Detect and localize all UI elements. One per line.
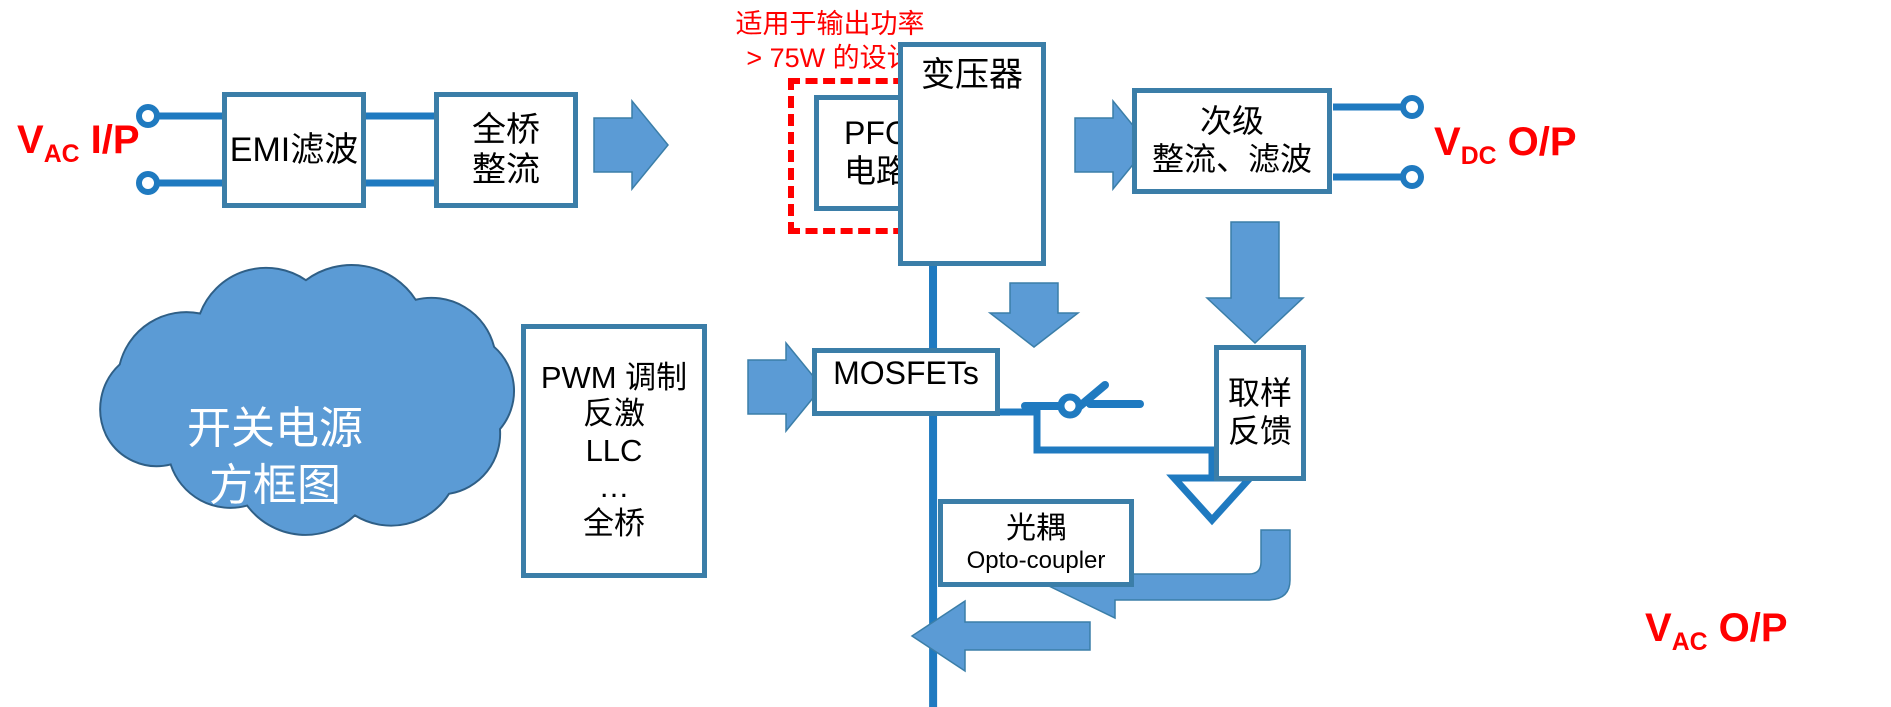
block-sampling-line1: 取样 bbox=[1228, 375, 1292, 413]
block-pwm-line4: … bbox=[599, 469, 630, 506]
block-secondary-line1: 次级 bbox=[1200, 103, 1264, 141]
output-terminal-bottom-icon bbox=[1403, 168, 1421, 186]
output-terminal-top-icon bbox=[1403, 98, 1421, 116]
label-vac-input-rest: I/P bbox=[80, 118, 140, 162]
arrow-secondary-to-sampling bbox=[1207, 222, 1303, 343]
block-pwm-line5: 全桥 bbox=[583, 506, 645, 543]
block-diagram-canvas: VAC I/P VDC O/P VAC O/P 适用于输出功率 > 75W 的设… bbox=[0, 0, 1891, 707]
block-bridge-rectifier-line2: 整流 bbox=[472, 150, 540, 190]
block-pwm-line1: PWM 调制 bbox=[541, 360, 687, 397]
block-pwm-line2: 反激 bbox=[583, 396, 645, 433]
label-vac-output-rest: O/P bbox=[1708, 606, 1788, 650]
label-vac-input-sub: AC bbox=[44, 141, 80, 168]
label-vac-output: VAC O/P bbox=[1645, 608, 1788, 656]
block-bridge-rectifier[interactable]: 全桥 整流 bbox=[434, 92, 578, 208]
arrow-rectifier-to-pfc bbox=[594, 101, 668, 189]
block-sampling-feedback[interactable]: 取样 反馈 bbox=[1214, 345, 1306, 481]
title-cloud-line2: 方框图 bbox=[120, 457, 430, 514]
mosfet-ground-wire bbox=[1000, 412, 1212, 478]
block-secondary-line2: 整流、滤波 bbox=[1152, 141, 1312, 179]
pfc-annotation-line1: 适用于输出功率 bbox=[700, 8, 960, 42]
label-vdc-output: VDC O/P bbox=[1434, 122, 1577, 170]
block-optocoupler[interactable]: 光耦 Opto-coupler bbox=[938, 499, 1134, 587]
block-optocoupler-line1: 光耦 bbox=[1006, 511, 1066, 546]
label-vac-output-sub: AC bbox=[1672, 629, 1708, 656]
block-pwm-control[interactable]: PWM 调制 反激 LLC … 全桥 bbox=[521, 324, 707, 578]
output-wires bbox=[1333, 107, 1412, 177]
arrow-down-to-mosfets bbox=[990, 283, 1078, 347]
label-vac-output-v: V bbox=[1645, 606, 1672, 650]
title-cloud-text: 开关电源 方框图 bbox=[120, 400, 430, 514]
label-vdc-output-v: V bbox=[1434, 120, 1461, 164]
block-sampling-line2: 反馈 bbox=[1228, 413, 1292, 451]
block-mosfets-label: MOSFETs bbox=[833, 355, 979, 393]
block-emi-filter[interactable]: EMI滤波 bbox=[222, 92, 366, 208]
label-vdc-output-rest: O/P bbox=[1497, 120, 1577, 164]
block-bridge-rectifier-line1: 全桥 bbox=[472, 110, 540, 150]
ground-symbol-icon bbox=[1174, 478, 1250, 520]
block-emi-filter-label: EMI滤波 bbox=[230, 130, 358, 170]
title-cloud-line1: 开关电源 bbox=[120, 400, 430, 457]
block-transformer[interactable]: 变压器 bbox=[898, 42, 1046, 266]
block-secondary-rectify-filter[interactable]: 次级 整流、滤波 bbox=[1132, 88, 1332, 194]
block-mosfets[interactable]: MOSFETs bbox=[812, 348, 1000, 416]
input-terminal-top-icon bbox=[139, 107, 157, 125]
mosfet-switch-icon bbox=[1025, 385, 1140, 406]
block-optocoupler-line2: Opto-coupler bbox=[967, 547, 1106, 575]
emi-to-rectifier-wires bbox=[364, 116, 437, 183]
label-vac-input-v: V bbox=[17, 118, 44, 162]
arrow-optocoupler-to-pwm bbox=[912, 601, 1090, 671]
label-vac-input: VAC I/P bbox=[17, 120, 140, 168]
arrow-pwm-to-mosfets bbox=[748, 343, 822, 431]
input-terminal-bottom-icon bbox=[139, 174, 157, 192]
block-pwm-line3: LLC bbox=[586, 433, 643, 470]
label-vdc-output-sub: DC bbox=[1461, 143, 1497, 170]
mosfet-switch-pivot-icon bbox=[1061, 397, 1079, 415]
block-transformer-title: 变压器 bbox=[921, 55, 1023, 95]
